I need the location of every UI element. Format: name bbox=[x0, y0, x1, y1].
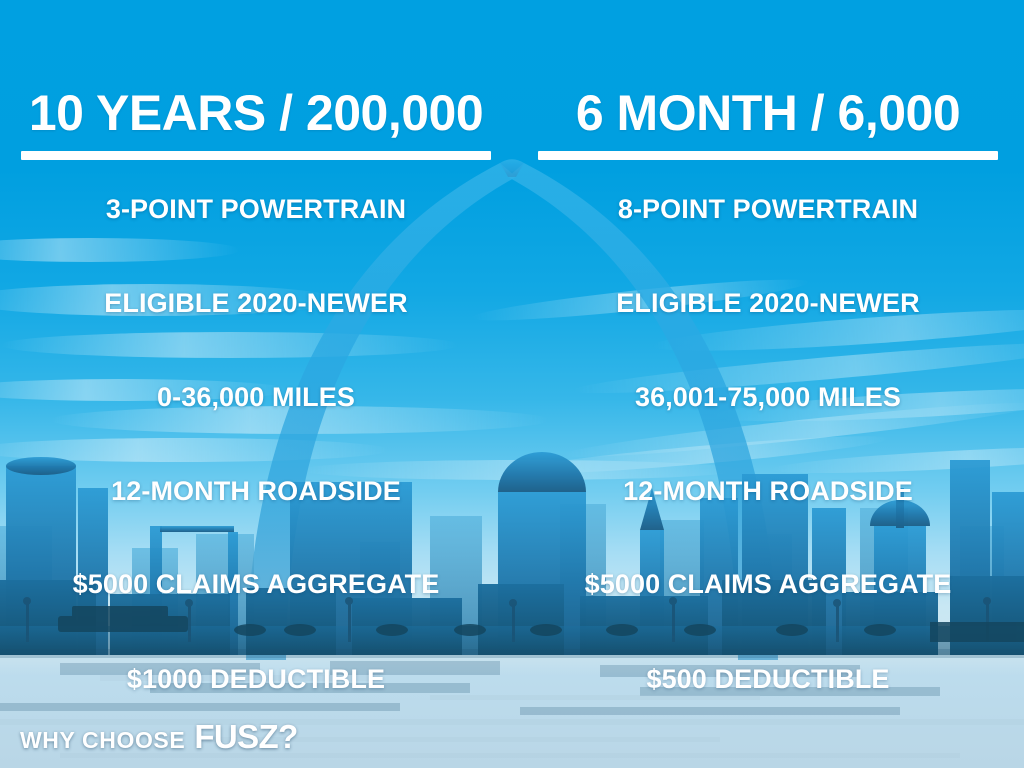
brand-logo: WHY CHOOSE FUSZ? bbox=[20, 718, 298, 756]
plan-header-left: 10 YEARS / 200,000 bbox=[0, 88, 512, 160]
plan-feature-item: $1000 DEDUCTIBLE bbox=[0, 666, 512, 693]
plan-feature-item: 12-MONTH ROADSIDE bbox=[512, 478, 1024, 505]
plan-feature-item: 3-POINT POWERTRAIN bbox=[0, 196, 512, 223]
logo-brand-text: FUSZ? bbox=[194, 718, 297, 756]
plan-title-underline-left bbox=[21, 151, 491, 160]
plan-feature-item: ELIGIBLE 2020-NEWER bbox=[0, 290, 512, 317]
plan-title-underline-right bbox=[538, 151, 998, 160]
plan-title-left: 10 YEARS / 200,000 bbox=[0, 88, 512, 138]
plan-feature-item: 12-MONTH ROADSIDE bbox=[0, 478, 512, 505]
plan-feature-item: ELIGIBLE 2020-NEWER bbox=[512, 290, 1024, 317]
plan-title-right: 6 MONTH / 6,000 bbox=[512, 88, 1024, 138]
logo-prefix-text: WHY CHOOSE bbox=[20, 727, 185, 754]
plan-header-right: 6 MONTH / 6,000 bbox=[512, 88, 1024, 160]
plan-feature-item: $500 DEDUCTIBLE bbox=[512, 666, 1024, 693]
plan-feature-item: 36,001-75,000 MILES bbox=[512, 384, 1024, 411]
plan-feature-item: $5000 CLAIMS AGGREGATE bbox=[512, 571, 1024, 598]
comparison-table: 10 YEARS / 200,000 3-POINT POWERTRAIN EL… bbox=[0, 0, 1024, 768]
plan-feature-item: $5000 CLAIMS AGGREGATE bbox=[0, 571, 512, 598]
plan-column-ten-year: 10 YEARS / 200,000 3-POINT POWERTRAIN EL… bbox=[0, 0, 512, 768]
plan-feature-item: 0-36,000 MILES bbox=[0, 384, 512, 411]
plan-column-six-month: 6 MONTH / 6,000 8-POINT POWERTRAIN ELIGI… bbox=[512, 0, 1024, 768]
plan-feature-item: 8-POINT POWERTRAIN bbox=[512, 196, 1024, 223]
slide-canvas: 10 YEARS / 200,000 3-POINT POWERTRAIN EL… bbox=[0, 0, 1024, 768]
